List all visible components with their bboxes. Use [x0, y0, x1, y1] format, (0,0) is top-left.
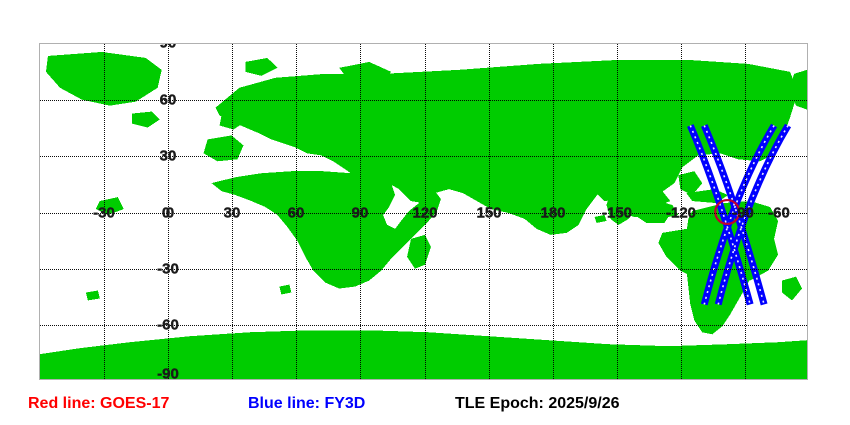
map-plot-area: -30 0 30 60 90 120 150 180 -150 -120 -90… — [39, 43, 808, 380]
landmass-new-zealand — [782, 277, 802, 301]
lon-tick-label-60: 60 — [288, 206, 305, 221]
gridline-lat-30 — [40, 156, 807, 157]
landmass-islet-c — [279, 285, 291, 295]
landmass-iceland — [132, 112, 160, 128]
lat-tick-label-90: 90 — [160, 43, 177, 51]
legend-bar: Red line: GOES-17 Blue line: FY3D TLE Ep… — [0, 392, 850, 420]
lat-tick-label-60: 60 — [160, 93, 177, 108]
lon-tick-label--150: -150 — [602, 206, 632, 221]
lon-tick-label--60: -60 — [768, 206, 790, 221]
legend-tle-epoch: TLE Epoch: 2025/9/26 — [455, 394, 620, 414]
gridline-lat--30 — [40, 269, 807, 270]
legend-blue-line-fy3d: Blue line: FY3D — [248, 394, 365, 414]
gridline-lat--60 — [40, 325, 807, 326]
gridline-lat-60 — [40, 100, 807, 101]
lat-tick-label-0: 0 — [162, 206, 170, 221]
lon-tick-label--120: -120 — [666, 206, 696, 221]
landmass-islet-b — [86, 291, 100, 301]
lon-tick-label--90: -90 — [732, 206, 754, 221]
lon-tick-label-150: 150 — [476, 206, 501, 221]
lat-tick-label--60: -60 — [157, 318, 179, 333]
lon-tick-label--30: -30 — [93, 206, 115, 221]
lon-tick-label-180: 180 — [540, 206, 565, 221]
landmass-antarctica — [40, 330, 807, 379]
lat-tick-label--30: -30 — [157, 262, 179, 277]
lat-tick-label-30: 30 — [160, 149, 177, 164]
lon-tick-label-120: 120 — [412, 206, 437, 221]
landmass-iberia — [204, 135, 244, 161]
lat-tick-label--90: -90 — [157, 367, 179, 381]
legend-red-line-goes17: Red line: GOES-17 — [28, 394, 169, 414]
lon-tick-label-30: 30 — [224, 206, 241, 221]
lon-tick-label-90: 90 — [352, 206, 369, 221]
landmass-madagascar — [407, 235, 431, 269]
landmass-svalbard — [245, 58, 277, 76]
satellite-ground-track-map: -30 0 30 60 90 120 150 180 -150 -120 -90… — [0, 0, 850, 425]
